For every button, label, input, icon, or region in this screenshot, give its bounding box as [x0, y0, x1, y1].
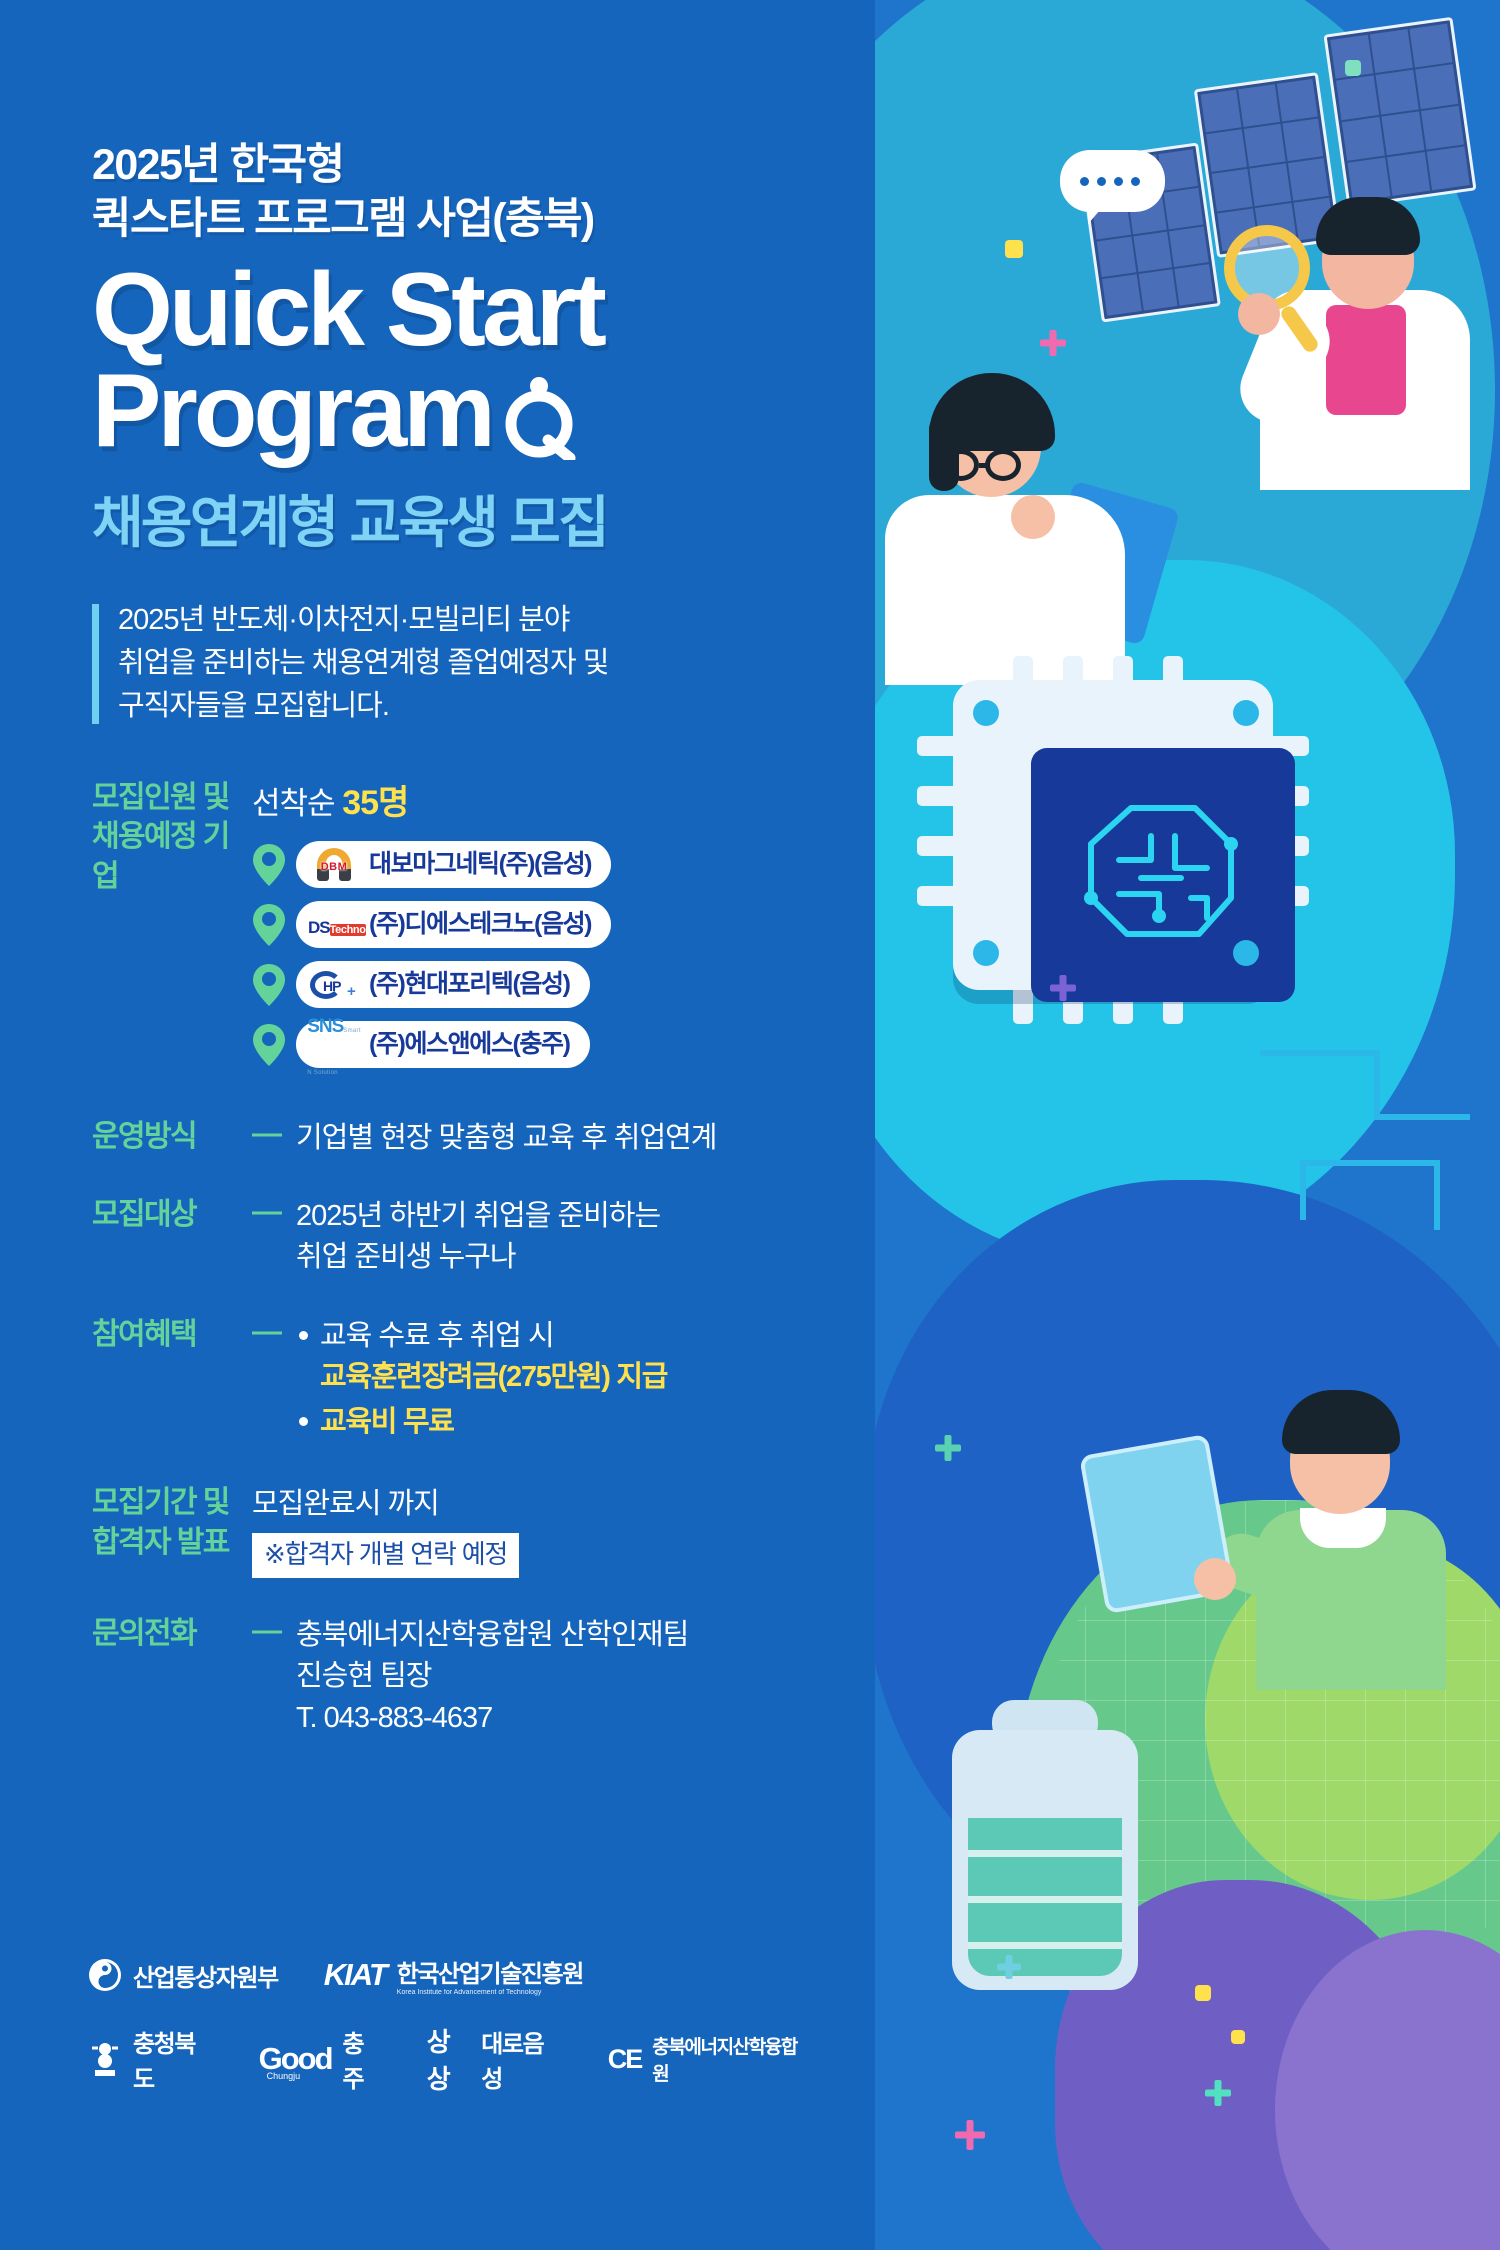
chungju-en: Chungju: [267, 2071, 301, 2081]
scientist-with-magnifier-illustration: [1230, 185, 1490, 485]
plus-decoration: [1040, 330, 1066, 356]
ds-techno-logo-icon: DSTechno: [308, 907, 360, 943]
square-decoration: [1005, 240, 1023, 258]
company-pill[interactable]: DSTechno (주)디에스테크노(음성): [296, 901, 611, 948]
row-target: 모집대상 — 2025년 하반기 취업을 준비하는 취업 준비생 누구나: [92, 1193, 900, 1278]
company-pill[interactable]: SNSSmart N Solution (주)에스앤에스(충주): [296, 1021, 590, 1068]
lead-line-1: 2025년 반도체·이차전지·모빌리티 분야: [118, 599, 900, 642]
kiat-kr-name: 한국산업기술진흥원: [397, 1961, 583, 1988]
plus-decoration: [1205, 2080, 1231, 2106]
row-value: 선착순 35명 DBM 대보마그네틱(주)(음성): [252, 776, 900, 1081]
period-label-line-1: 모집기간 및: [92, 1483, 252, 1523]
footer-logo-mark: 상상: [427, 2022, 470, 2096]
row-period: 모집기간 및 합격자 발표 모집완료시 까지 ※합격자 개별 연락 예정: [92, 1481, 900, 1578]
good-chungju-logo: GoodChungju 충주: [259, 2024, 381, 2094]
target-line-2: 취업 준비생 누구나: [296, 1237, 900, 1278]
count-prefix: 선착순: [252, 786, 342, 821]
row-label: 문의전화: [92, 1612, 252, 1654]
circuit-trace-decoration: [1260, 1010, 1480, 1250]
benefit-1-line-2: 교육훈련장려금(275만원) 지급: [320, 1357, 900, 1398]
square-decoration: [1345, 60, 1361, 76]
contact-phone[interactable]: T. 043-883-4637: [296, 1698, 900, 1739]
plus-decoration: [935, 1435, 961, 1461]
company-item[interactable]: HP+ (주)현대포리텍(음성): [252, 961, 900, 1008]
row-dash: —: [252, 1193, 296, 1229]
dbm-logo-icon: DBM: [308, 847, 360, 883]
plus-decoration: [997, 1955, 1021, 1979]
battery-illustration: [940, 1700, 1150, 1990]
chat-bubble-icon: [1060, 150, 1165, 212]
chungcheongbukdo-logo: 충청북도: [88, 2024, 213, 2094]
row-contact: 문의전화 — 충북에너지산학융합원 산학인재팀 진승현 팀장 T. 043-88…: [92, 1612, 900, 1739]
question-mark-person-icon: [496, 374, 582, 460]
company-pill[interactable]: HP+ (주)현대포리텍(음성): [296, 961, 590, 1008]
square-decoration: [1231, 2030, 1245, 2044]
company-item[interactable]: DSTechno (주)디에스테크노(음성): [252, 901, 900, 948]
lead-paragraph: 2025년 반도체·이차전지·모빌리티 분야 취업을 준비하는 채용연계형 졸업…: [92, 599, 900, 728]
benefit-list: 교육 수료 후 취업 시 교육훈련장려금(275만원) 지급 교육비 무료: [296, 1316, 900, 1444]
map-pin-icon: [252, 843, 286, 887]
taegeuk-swirl-icon: [88, 1958, 122, 1992]
footer-logos: 산업통상자원부 KIAT 한국산업기술진흥원 Korea Institute f…: [88, 1954, 808, 2122]
motie-logo: 산업통상자원부: [88, 1958, 278, 1993]
company-name: 대보마그네틱(주)(음성): [369, 847, 591, 883]
ce-institute-logo: CE 충북에너지산학융합원: [608, 2032, 808, 2086]
kicker-line-2: 퀵스타트 프로그램 사업(충북): [92, 192, 900, 246]
recruit-label-line-1: 모집인원 및: [92, 778, 252, 818]
footer-logo-label: 충북에너지산학융합원: [652, 2032, 808, 2086]
info-rows: 모집인원 및 채용예정 기업 선착순 35명 DBM 대보마그네틱(주)(음성): [92, 776, 900, 1739]
row-label: 모집기간 및 합격자 발표: [92, 1481, 252, 1562]
map-pin-icon: [252, 963, 286, 1007]
hp-plus-logo-icon: HP+: [308, 967, 360, 1003]
footer-logo-mark: GoodChungju: [259, 2041, 332, 2077]
title-line-1: Quick Start: [92, 252, 603, 368]
period-value: 모집완료시 까지: [252, 1484, 900, 1525]
row-label: 모집대상: [92, 1193, 252, 1235]
benefit-2: 교육비 무료: [320, 1406, 454, 1438]
sns-logo-icon: SNSSmart N Solution: [308, 1027, 360, 1063]
plus-decoration: [1050, 975, 1076, 1001]
benefit-item: 교육 수료 후 취업 시 교육훈련장려금(275만원) 지급: [296, 1316, 900, 1398]
kicker-line-1: 2025년 한국형: [92, 138, 900, 192]
row-operation: 운영방식 — 기업별 현장 맞춤형 교육 후 취업연계: [92, 1115, 900, 1159]
row-value: 충북에너지산학융합원 산학인재팀 진승현 팀장 T. 043-883-4637: [296, 1612, 900, 1739]
poster: 2025년 한국형 퀵스타트 프로그램 사업(충북) Quick Start P…: [0, 0, 1500, 2250]
company-name: (주)디에스테크노(음성): [369, 907, 591, 943]
benefit-item: 교육비 무료: [296, 1402, 900, 1443]
title-line-2: Program: [92, 353, 492, 469]
row-dash: —: [252, 1612, 296, 1648]
footer-logo-mark: CE: [608, 2044, 642, 2075]
row-value: 기업별 현장 맞춤형 교육 후 취업연계: [296, 1115, 900, 1159]
content-column: 2025년 한국형 퀵스타트 프로그램 사업(충북) Quick Start P…: [0, 0, 900, 2250]
company-pill[interactable]: DBM 대보마그네틱(주)(음성): [296, 841, 611, 888]
footer-logo-label: 산업통상자원부: [133, 1958, 278, 1993]
illustration-panel: [875, 0, 1500, 2250]
subtitle: 채용연계형 교육생 모집: [92, 478, 900, 559]
row-benefits: 참여혜택 — 교육 수료 후 취업 시 교육훈련장려금(275만원) 지급 교육…: [92, 1313, 900, 1448]
kicker: 2025년 한국형 퀵스타트 프로그램 사업(충북): [92, 138, 900, 246]
target-line-1: 2025년 하반기 취업을 준비하는: [296, 1196, 900, 1237]
page-title: Quick Start Program: [92, 260, 900, 462]
square-decoration: [1195, 1985, 1211, 2001]
row-recruit-companies: 모집인원 및 채용예정 기업 선착순 35명 DBM 대보마그네틱(주)(음성): [92, 776, 900, 1081]
eumseong-logo: 상상 대로음성: [427, 2022, 562, 2096]
solar-panel-icon: [1323, 17, 1476, 208]
row-value: 교육 수료 후 취업 시 교육훈련장려금(275만원) 지급 교육비 무료: [296, 1313, 900, 1448]
row-dash: —: [252, 1115, 296, 1151]
footer-logo-row-2: 충청북도 GoodChungju 충주 상상 대로음성 CE 충북에너지산학융합…: [88, 2022, 808, 2096]
recruit-label-line-2: 채용예정 기업: [92, 817, 252, 896]
semiconductor-chip-illustration: [903, 640, 1323, 1040]
company-item[interactable]: DBM 대보마그네틱(주)(음성): [252, 841, 900, 888]
period-label-line-2: 합격자 발표: [92, 1523, 252, 1563]
row-label: 모집인원 및 채용예정 기업: [92, 776, 252, 897]
benefit-1-line-1: 교육 수료 후 취업 시: [320, 1320, 554, 1352]
footer-logo-row-1: 산업통상자원부 KIAT 한국산업기술진흥원 Korea Institute f…: [88, 1954, 808, 1996]
footer-logo-label: 한국산업기술진흥원 Korea Institute for Advancemen…: [397, 1954, 583, 1996]
row-label: 운영방식: [92, 1115, 252, 1157]
row-dash: —: [252, 1313, 296, 1349]
contact-person: 진승현 팀장: [296, 1656, 900, 1697]
row-label: 참여혜택: [92, 1313, 252, 1355]
lead-line-2: 취업을 준비하는 채용연계형 졸업예정자 및: [118, 642, 900, 685]
map-pin-icon: [252, 903, 286, 947]
kiat-logo: KIAT 한국산업기술진흥원 Korea Institute for Advan…: [324, 1954, 583, 1996]
count-value: 35명: [342, 784, 408, 822]
lead-line-3: 구직자들을 모집합니다.: [118, 685, 900, 728]
footer-logo-label: 충주: [343, 2024, 381, 2094]
student-with-tablet-illustration: [1160, 1370, 1460, 1730]
kiat-en-name: Korea Institute for Advancement of Techn…: [397, 1989, 583, 1996]
map-pin-icon: [252, 1023, 286, 1067]
contact-org: 충북에너지산학융합원 산학인재팀: [296, 1615, 900, 1656]
period-note: ※합격자 개별 연락 예정: [252, 1533, 519, 1578]
footer-logo-mark: KIAT: [324, 1957, 386, 1993]
row-value: 2025년 하반기 취업을 준비하는 취업 준비생 누구나: [296, 1193, 900, 1278]
recruit-count: 선착순 35명: [252, 779, 900, 827]
plus-decoration: [955, 2120, 985, 2150]
footer-logo-label: 충청북도: [133, 2024, 213, 2094]
company-name: (주)에스앤에스(충주): [369, 1027, 570, 1063]
company-name: (주)현대포리텍(음성): [369, 967, 570, 1003]
researcher-illustration: [885, 345, 1165, 675]
footer-logo-label: 대로음성: [481, 2024, 562, 2094]
company-item[interactable]: SNSSmart N Solution (주)에스앤에스(충주): [252, 1021, 900, 1068]
province-emblem-icon: [88, 2042, 122, 2076]
row-value: 모집완료시 까지 ※합격자 개별 연락 예정: [252, 1481, 900, 1578]
